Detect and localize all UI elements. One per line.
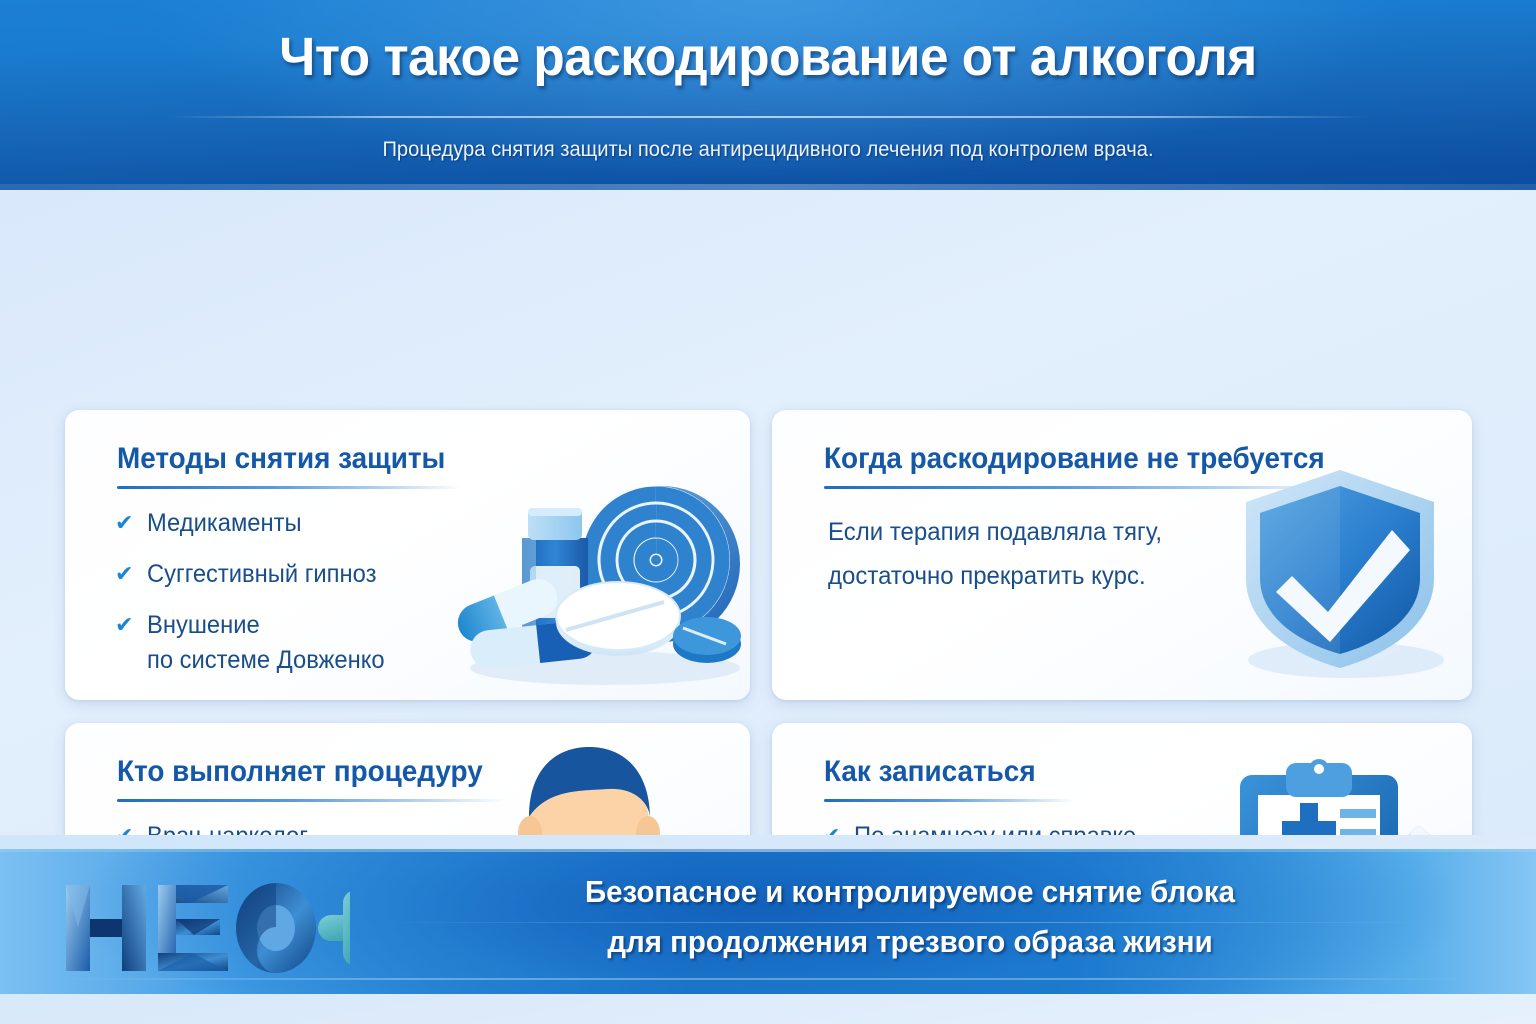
card-when-not-needed-text: Если терапия подавляла тягу, достаточно … bbox=[828, 510, 1162, 598]
header-divider bbox=[170, 116, 1370, 118]
cards-stage: Методы снятия защиты ✔ Медикаменты ✔ Суг… bbox=[0, 190, 1536, 835]
list-item-label: Медикаменты bbox=[147, 506, 302, 541]
check-icon: ✔ bbox=[115, 608, 139, 642]
footer-tagline: Безопасное и контролируемое снятие блока… bbox=[388, 867, 1433, 967]
pills-spiral-icon bbox=[450, 446, 750, 696]
check-icon: ✔ bbox=[115, 506, 139, 540]
page-header: Что такое раскодирование от алкоголя Про… bbox=[0, 0, 1536, 190]
page-subtitle: Процедура снятия защиты после антирециди… bbox=[31, 138, 1506, 162]
check-icon: ✔ bbox=[115, 557, 139, 591]
card-who-performs-underline bbox=[117, 799, 507, 802]
neo-plus-logo bbox=[60, 875, 350, 980]
list-item: ✔ Медикаменты bbox=[115, 506, 397, 541]
page-footer: Безопасное и контролируемое снятие блока… bbox=[0, 835, 1536, 1024]
card-methods-bullet-list: ✔ Медикаменты ✔ Суггестивный гипноз ✔ Вн… bbox=[115, 506, 397, 694]
list-item-label: Суггестивный гипноз bbox=[147, 557, 376, 592]
footer-tagline-divider bbox=[380, 922, 1440, 923]
card-methods-underline bbox=[117, 486, 462, 489]
card-how-to-book-underline bbox=[824, 799, 1074, 802]
card-when-not-needed: Когда раскодирование не требуется Если т… bbox=[772, 410, 1472, 700]
list-item: ✔ Суггестивный гипноз bbox=[115, 557, 397, 592]
card-who-performs-heading: Кто выполняет процедуру bbox=[117, 755, 483, 789]
card-when-not-needed-underline bbox=[824, 486, 1344, 489]
card-how-to-book-heading: Как записаться bbox=[824, 755, 1036, 789]
footer-banner: Безопасное и контролируемое снятие блока… bbox=[0, 849, 1536, 994]
page-title: Что такое раскодирование от алкоголя bbox=[38, 26, 1497, 88]
card-when-not-needed-heading: Когда раскодирование не требуется bbox=[824, 442, 1325, 476]
list-item: ✔ Внушение по системе Довженко bbox=[115, 608, 397, 678]
card-methods: Методы снятия защиты ✔ Медикаменты ✔ Суг… bbox=[65, 410, 750, 700]
card-methods-heading: Методы снятия защиты bbox=[117, 442, 445, 476]
list-item-label: Внушение по системе Довженко bbox=[147, 608, 385, 678]
